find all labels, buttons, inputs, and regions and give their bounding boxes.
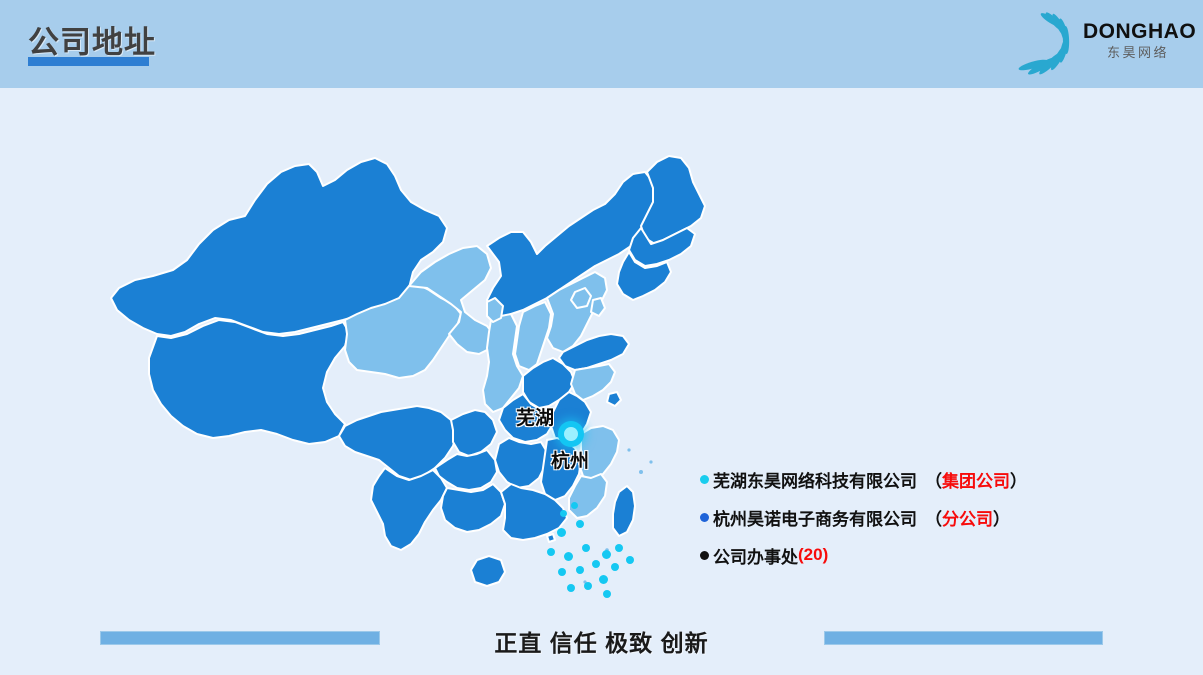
province-shanxi xyxy=(515,302,551,370)
legend-label: 芜湖东昊网络科技有限公司 xyxy=(713,467,917,492)
office-dot xyxy=(602,550,611,559)
legend-paren-close: ) xyxy=(823,545,829,565)
legend-item-group-company: 芜湖东昊网络科技有限公司 （ 集团公司 ） xyxy=(700,460,1120,498)
province-hunan xyxy=(495,438,547,488)
legend-highlight: 集团公司 xyxy=(942,467,1010,492)
office-dot xyxy=(615,544,623,552)
office-dot xyxy=(560,510,567,517)
office-dot xyxy=(567,584,575,592)
province-yunnan xyxy=(371,468,447,550)
office-dot xyxy=(592,560,600,568)
office-dot xyxy=(576,566,584,574)
office-dot xyxy=(557,528,566,537)
logo-name: DONGHAO xyxy=(1083,20,1193,44)
province-tibet xyxy=(149,320,349,444)
china-map xyxy=(95,120,715,620)
legend-paren-open: （ xyxy=(925,505,942,530)
legend-label: 公司办事处 xyxy=(713,543,798,568)
office-dot xyxy=(626,556,634,564)
logo-subtitle: 东昊网络 xyxy=(1083,44,1193,62)
region-hongkong xyxy=(547,534,555,542)
legend-paren-close: ） xyxy=(1010,467,1027,492)
office-dot xyxy=(558,568,566,576)
office-dot xyxy=(584,582,592,590)
office-dot xyxy=(582,544,590,552)
legend-item-branch-company: 杭州昊诺电子商务有限公司 （ 分公司 ） xyxy=(700,498,1120,536)
legend-paren-open: （ xyxy=(925,467,942,492)
title-underline xyxy=(28,57,149,66)
legend: 芜湖东昊网络科技有限公司 （ 集团公司 ） 杭州昊诺电子商务有限公司 （ 分公司… xyxy=(700,460,1120,574)
legend-highlight: 分公司 xyxy=(942,505,993,530)
company-logo: DONGHAO 东昊网络 xyxy=(1015,8,1185,80)
fan-blades-icon xyxy=(1015,10,1087,78)
office-dot xyxy=(576,520,584,528)
logo-wordmark: DONGHAO 东昊网络 xyxy=(1083,20,1193,62)
legend-paren-close: ） xyxy=(993,505,1010,530)
headquarters-marker xyxy=(558,421,584,447)
map-label-hangzhou: 杭州 xyxy=(551,446,589,473)
legend-label: 杭州昊诺电子商务有限公司 xyxy=(713,505,917,530)
slide-canvas: 公司地址 xyxy=(0,0,1203,675)
legend-highlight: 20 xyxy=(804,545,823,565)
province-tianjin xyxy=(591,298,605,316)
office-dot xyxy=(599,575,608,584)
office-dot xyxy=(547,548,555,556)
legend-bullet-icon xyxy=(700,475,709,484)
province-guangxi xyxy=(441,484,505,532)
province-shanghai xyxy=(607,392,621,406)
office-dot xyxy=(571,502,578,509)
legend-bullet-icon xyxy=(700,551,709,560)
office-dot xyxy=(611,563,619,571)
province-taiwan xyxy=(613,486,635,536)
page-title: 公司地址 xyxy=(28,17,156,62)
province-hainan xyxy=(471,556,505,586)
slide-header: 公司地址 xyxy=(0,0,1203,88)
map-label-wuhu: 芜湖 xyxy=(516,403,554,430)
office-dot xyxy=(603,590,611,598)
legend-item-offices: 公司办事处 ( 20 ) xyxy=(700,536,1120,574)
province-chongqing xyxy=(451,410,497,456)
legend-bullet-icon xyxy=(700,513,709,522)
office-dot xyxy=(564,552,573,561)
footer-bar-right xyxy=(824,631,1103,645)
